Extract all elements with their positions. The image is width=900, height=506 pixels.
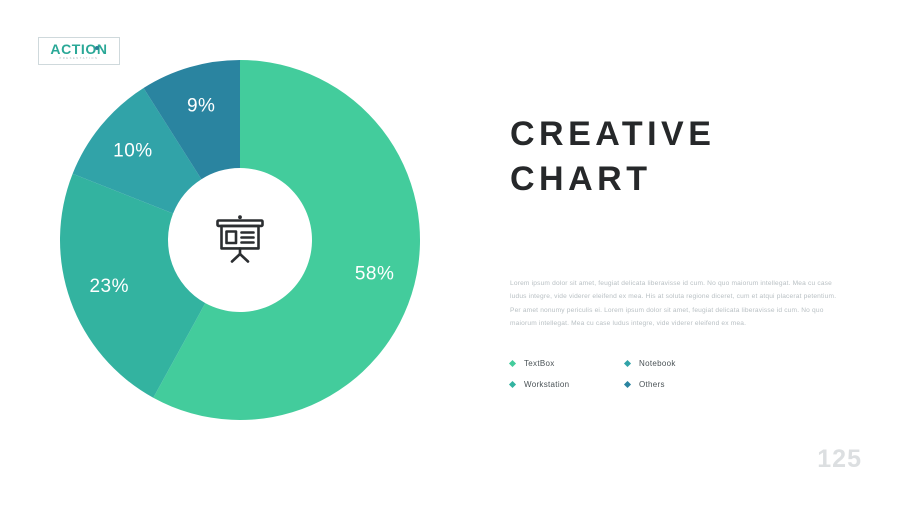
logo-word-text: ACTION bbox=[50, 41, 107, 57]
legend-item[interactable]: Workstation bbox=[510, 380, 625, 389]
donut-slice-label: 58% bbox=[355, 264, 395, 285]
legend-item-label: Others bbox=[639, 380, 665, 389]
legend-marker-icon bbox=[624, 360, 631, 367]
page-title-line-1: CREATIVE bbox=[510, 112, 860, 157]
content-column: CREATIVE CHART Lorem ipsum dolor sit ame… bbox=[510, 112, 860, 202]
legend-item-label: TextBox bbox=[524, 359, 555, 368]
legend-item[interactable]: TextBox bbox=[510, 359, 625, 368]
page-title-line-2: CHART bbox=[510, 157, 860, 202]
page-title: CREATIVE CHART bbox=[510, 112, 860, 202]
legend-marker-icon bbox=[624, 381, 631, 388]
body-paragraph: Lorem ipsum dolor sit amet, feugiat deli… bbox=[510, 277, 848, 331]
donut-slice-label: 23% bbox=[89, 276, 129, 297]
donut-slice-label: 10% bbox=[113, 140, 153, 161]
legend-item[interactable]: Notebook bbox=[625, 359, 740, 368]
legend-marker-icon bbox=[509, 360, 516, 367]
legend-marker-icon bbox=[509, 381, 516, 388]
logo-wordmark: ACTION bbox=[50, 42, 107, 56]
legend-item[interactable]: Others bbox=[625, 380, 740, 389]
page-number: 125 bbox=[817, 445, 862, 474]
donut-slice-label: 9% bbox=[187, 96, 215, 117]
legend-item-label: Workstation bbox=[524, 380, 569, 389]
donut-chart: 58%23%10%9% bbox=[60, 60, 420, 420]
legend-item-label: Notebook bbox=[639, 359, 676, 368]
chart-legend: TextBoxNotebookWorkstationOthers bbox=[510, 359, 770, 389]
slide-canvas: ACTION PRESENTATION 58%23%10%9% bbox=[0, 0, 900, 506]
